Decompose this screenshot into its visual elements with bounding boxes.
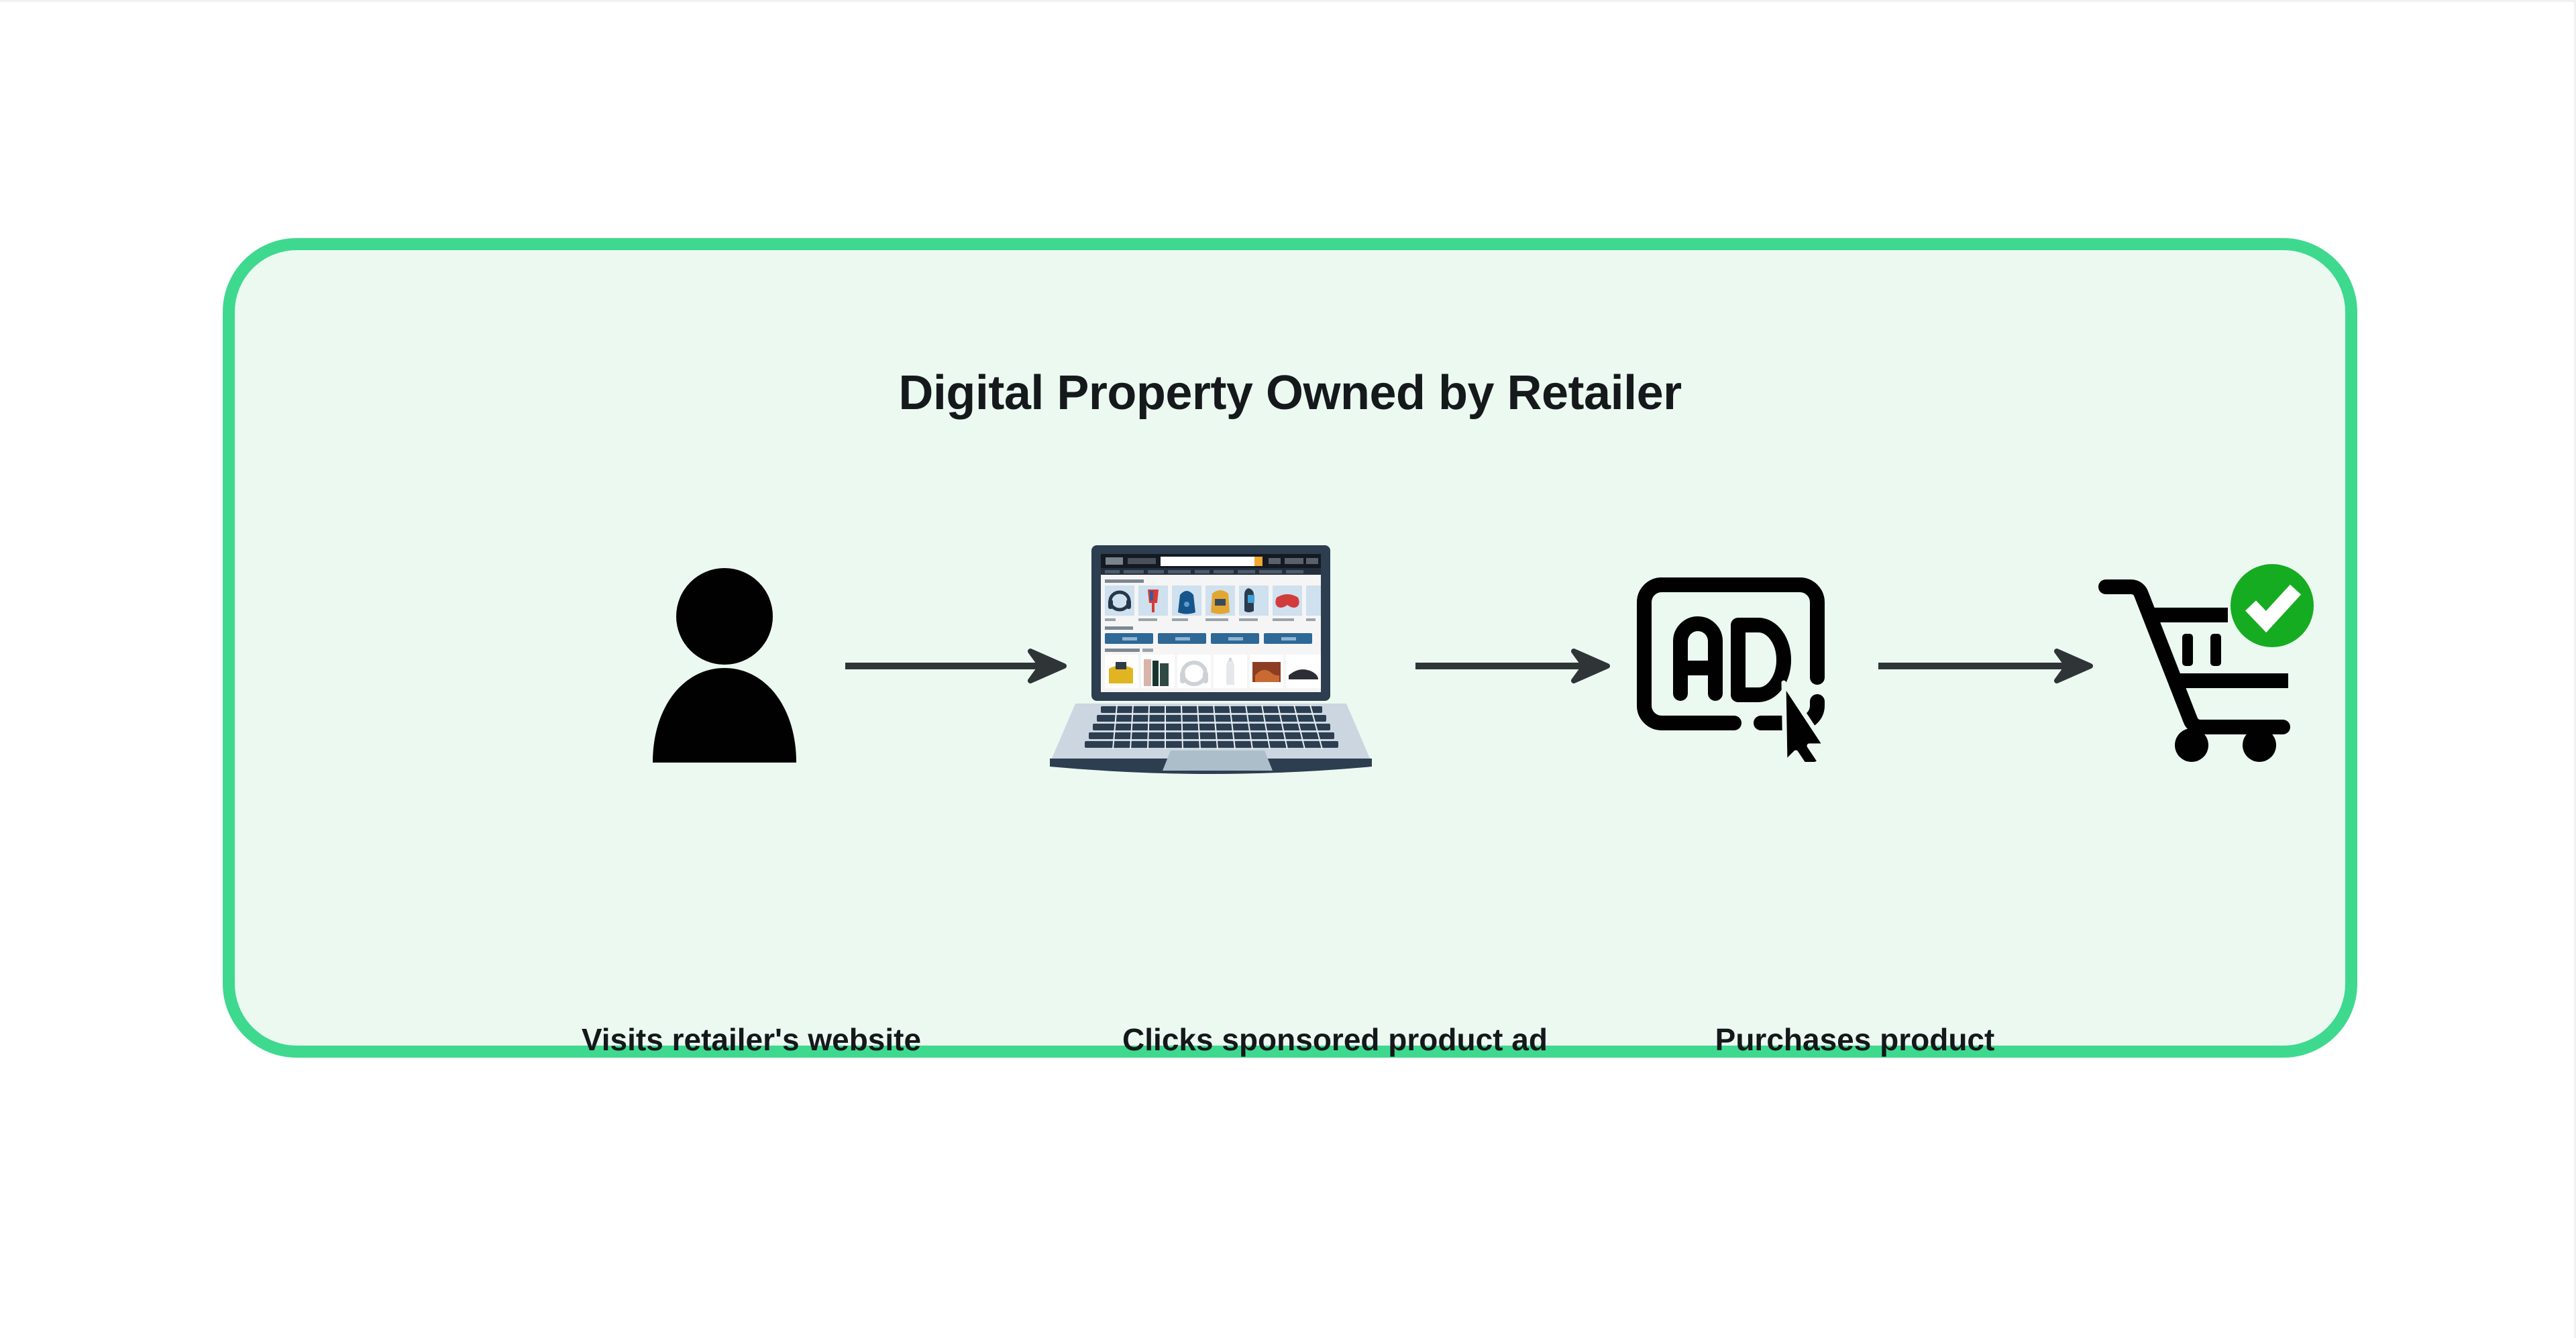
flow-node-sponsored-ad[interactable] xyxy=(1620,539,1862,793)
page-title: Digital Property Owned by Retailer xyxy=(235,366,2345,421)
caption-visits-website: Visits retailer's website xyxy=(563,1021,939,1058)
flow-node-retailer-website[interactable] xyxy=(1043,539,1379,793)
caption-clicks-ad: Clicks sponsored product ad xyxy=(1107,1021,1563,1058)
arrow-website-to-ad xyxy=(1415,646,1610,686)
customer-journey-flow xyxy=(235,539,2345,793)
caption-purchases-product: Purchases product xyxy=(1667,1021,2043,1058)
arrow-ad-to-cart xyxy=(1878,646,2093,686)
cart-check-icon xyxy=(2090,564,2324,769)
page-background: Digital Property Owned by Retailer xyxy=(0,0,2576,1338)
retailer-digital-property-card: Digital Property Owned by Retailer xyxy=(223,238,2357,1058)
laptop-website-icon xyxy=(1043,537,1379,795)
ad-click-icon xyxy=(1627,567,1855,765)
flow-node-purchase[interactable] xyxy=(2086,539,2328,793)
person-icon xyxy=(647,564,802,769)
flow-node-user[interactable] xyxy=(624,539,825,793)
arrow-user-to-website xyxy=(845,646,1067,686)
